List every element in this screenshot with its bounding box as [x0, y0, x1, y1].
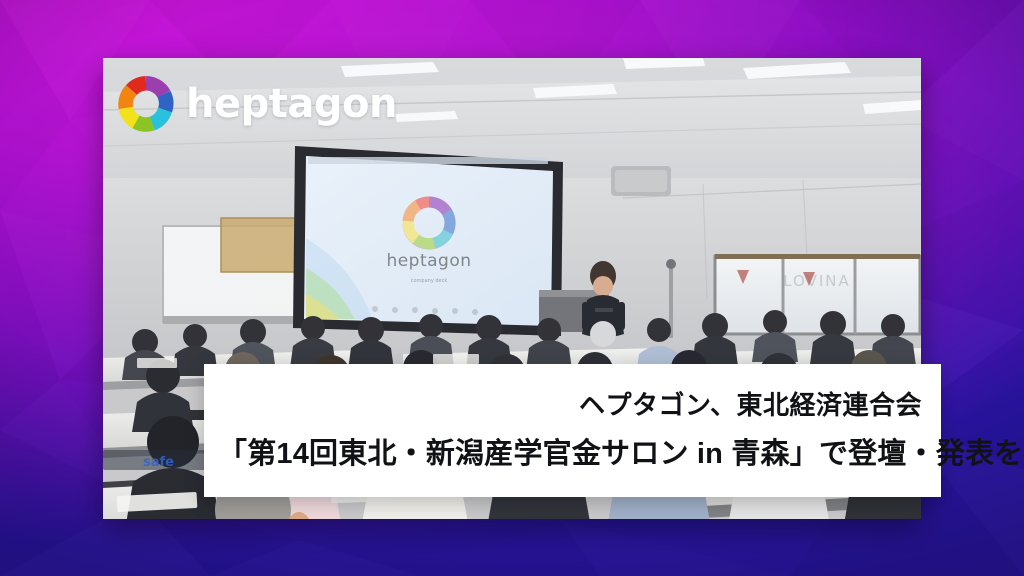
heptagon-color-wheel-icon	[118, 76, 174, 132]
heptagon-brand-lockup: heptagon	[118, 76, 397, 132]
caption-line-2: 「第14回東北・新潟産学官金サロン in 青森」で登壇・発表を実施	[218, 437, 931, 472]
heptagon-wordmark: heptagon	[186, 84, 397, 124]
caption-line-1: ヘプタゴン、東北経済連合会	[218, 390, 931, 421]
caption-panel: ヘプタゴン、東北経済連合会 「第14回東北・新潟産学官金サロン in 青森」で登…	[204, 364, 941, 497]
slide-canvas: heptagon company deck LOV	[0, 0, 1024, 576]
